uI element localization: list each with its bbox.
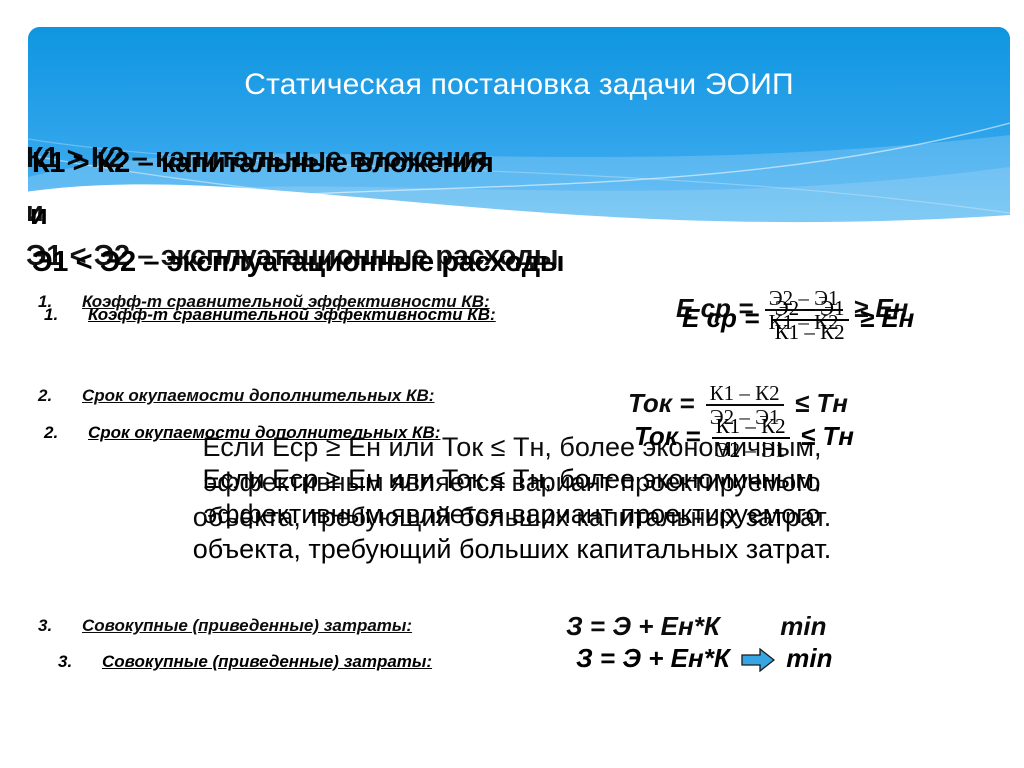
formula-1-comparison: ≥ bbox=[860, 303, 874, 333]
page-title: Статическая постановка задачи ЭОИП bbox=[28, 68, 1010, 102]
slide-canvas: Статическая постановка задачи ЭОИП К1 > … bbox=[0, 0, 1024, 768]
formula-3-ghost-lhs: З = Э + Ен*К bbox=[566, 611, 720, 641]
right-arrow-icon bbox=[741, 648, 775, 672]
list-item-3-ghost-label: Совокупные (приведенные) затраты: bbox=[82, 616, 412, 635]
formula-1-lhs: Е ср bbox=[682, 303, 737, 333]
body-paragraph-line1: Если Еср ≥ Ен или Ток ≤ Тн, более эконом… bbox=[0, 462, 1024, 497]
formula-3-lhs: З = Э + Ен*К bbox=[576, 643, 730, 673]
list-item-2-ghost-number: 2. bbox=[38, 386, 82, 406]
list-item-1: 1.Коэфф-т сравнительной эффективности КВ… bbox=[44, 305, 496, 325]
formula-2-ghost-lhs: Ток bbox=[628, 388, 672, 418]
list-item-3-ghost-number: 3. bbox=[38, 616, 82, 636]
heading-capital-text: К1 > К2 – капитальные вложения bbox=[32, 147, 493, 179]
formula-1-fraction: Э2 – Э1 К1 – К2 bbox=[771, 297, 849, 343]
heading-conjunction-text: и bbox=[30, 199, 47, 231]
formula-1-numerator: Э2 – Э1 bbox=[771, 297, 849, 319]
body-paragraph: Если Еср ≥ Ен или Ток ≤ Тн, более эконом… bbox=[0, 462, 1024, 567]
list-item-2-ghost-label: Срок окупаемости дополнительных КВ: bbox=[82, 386, 434, 405]
list-item-3-number: 3. bbox=[58, 652, 102, 672]
formula-2-ghost-comparison: ≤ bbox=[795, 388, 809, 418]
right-arrow-icon-svg bbox=[741, 648, 775, 672]
list-item-3-formula: З = Э + Ен*К min bbox=[576, 643, 833, 674]
list-item-3: 3.Совокупные (приведенные) затраты: bbox=[58, 652, 432, 672]
body-paragraph-line2: эффективным является вариант проектируем… bbox=[0, 497, 1024, 532]
body-paragraph-line3: объекта, требующий больших капитальных з… bbox=[0, 532, 1024, 567]
formula-3-rhs: min bbox=[786, 643, 832, 673]
list-item-3-label: Совокупные (приведенные) затраты: bbox=[102, 652, 432, 671]
list-item-1-formula: Е ср = Э2 – Э1 К1 – К2 ≥ Ен bbox=[682, 297, 914, 343]
body-paragraph-ghost-line1: Если Еср ≥ Ен или Ток ≤ Тн, более эконом… bbox=[0, 430, 1024, 465]
heading-capital: К1 > К2 – капитальные вложения bbox=[32, 147, 493, 180]
formula-3-ghost-rhs: min bbox=[780, 611, 826, 641]
formula-1-eq: = bbox=[744, 303, 759, 333]
heading-operating-text: Э1 < Э2 – эксплуатационные расходы bbox=[32, 246, 564, 278]
list-item-3-ghost: 3.Совокупные (приведенные) затраты: bbox=[38, 616, 412, 636]
list-item-3-formula-ghost: З = Э + Ен*К min bbox=[566, 611, 827, 642]
list-item-1-label: Коэфф-т сравнительной эффективности КВ: bbox=[88, 305, 496, 324]
formula-2-ghost-eq: = bbox=[679, 388, 694, 418]
heading-conjunction: и bbox=[30, 199, 47, 232]
list-item-2-ghost: 2.Срок окупаемости дополнительных КВ: bbox=[38, 386, 434, 406]
formula-2-ghost-numerator: К1 – К2 bbox=[706, 382, 784, 404]
heading-operating: Э1 < Э2 – эксплуатационные расходы bbox=[32, 246, 564, 279]
formula-1-rhs: Ен bbox=[881, 303, 914, 333]
formula-1-denominator: К1 – К2 bbox=[771, 319, 849, 343]
list-item-1-number: 1. bbox=[44, 305, 88, 325]
formula-2-ghost-rhs: Тн bbox=[816, 388, 848, 418]
